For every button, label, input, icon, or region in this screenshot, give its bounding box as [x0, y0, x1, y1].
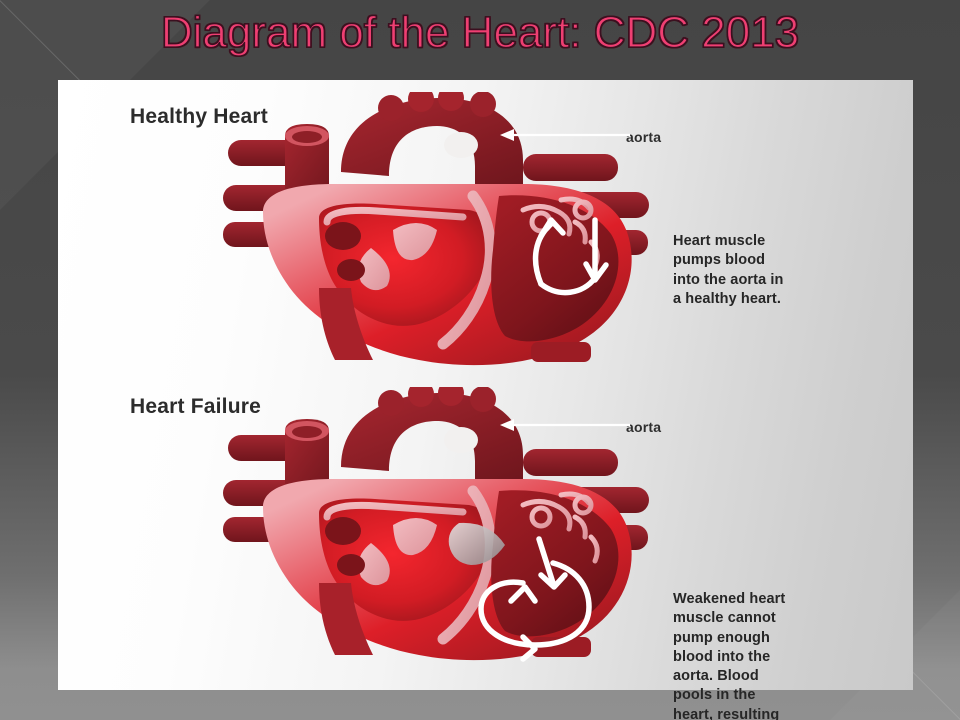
diagram-image-panel: Healthy Heart — [58, 80, 913, 690]
heart-failure-caption: Weakened heart muscle cannot pump enough… — [673, 590, 878, 720]
slide-canvas: Diagram of the Heart: CDC 2013 Healthy H… — [0, 0, 960, 720]
healthy-heart-caption: Heart muscle pumps blood into the aorta … — [673, 232, 873, 309]
aorta-leader-arrow-failure — [498, 412, 638, 436]
healthy-heart-figure: Healthy Heart — [58, 80, 913, 380]
aorta-leader-arrow-healthy — [498, 122, 638, 146]
heart-failure-figure: Heart Failure — [58, 375, 913, 690]
myocardium — [263, 184, 632, 365]
slide-title: Diagram of the Heart: CDC 2013 — [0, 8, 960, 58]
